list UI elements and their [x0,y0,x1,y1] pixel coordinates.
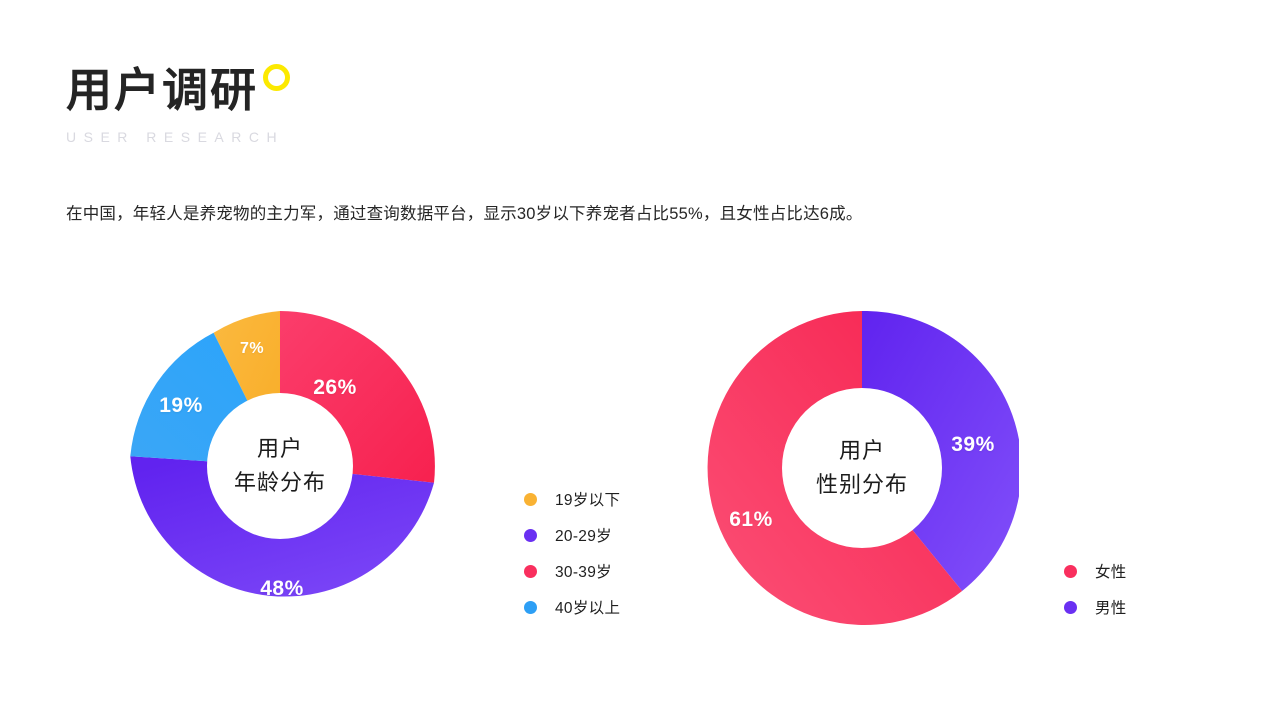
legend-item-male[interactable]: 男性 [1064,589,1127,625]
donut-hole [782,388,942,548]
legend-swatch-icon [1064,601,1077,614]
donut-age-distribution: 用户 年龄分布 26% 48% 19% 7% [125,311,435,621]
legend-item-30-39[interactable]: 30-39岁 [524,553,620,589]
charts-area: 用户 年龄分布 26% 48% 19% 7% 19岁以下 20-29岁 30-3… [0,0,1280,720]
legend-swatch-icon [524,601,537,614]
legend-item-40-plus[interactable]: 40岁以上 [524,589,620,625]
legend-swatch-icon [524,529,537,542]
chart-gender-distribution: 用户 性别分布 39% 61% [705,311,1019,625]
legend-label: 30-39岁 [555,560,612,582]
donut-gender-svg [705,311,1019,625]
donut-age-svg [125,311,435,621]
legend-label: 女性 [1095,560,1127,582]
legend-label: 19岁以下 [555,488,620,510]
chart-age-distribution: 用户 年龄分布 26% 48% 19% 7% [125,311,435,621]
legend-gender-distribution: 女性 男性 [1064,553,1127,625]
legend-item-20-29[interactable]: 20-29岁 [524,517,620,553]
donut-gender-distribution: 用户 性别分布 39% 61% [705,311,1019,625]
legend-label: 20-29岁 [555,524,612,546]
legend-swatch-icon [1064,565,1077,578]
legend-swatch-icon [524,565,537,578]
legend-age-distribution: 19岁以下 20-29岁 30-39岁 40岁以上 [524,481,620,625]
legend-label: 男性 [1095,596,1127,618]
donut-hole [207,393,353,539]
legend-item-under-19[interactable]: 19岁以下 [524,481,620,517]
legend-swatch-icon [524,493,537,506]
legend-item-female[interactable]: 女性 [1064,553,1127,589]
legend-label: 40岁以上 [555,596,620,618]
